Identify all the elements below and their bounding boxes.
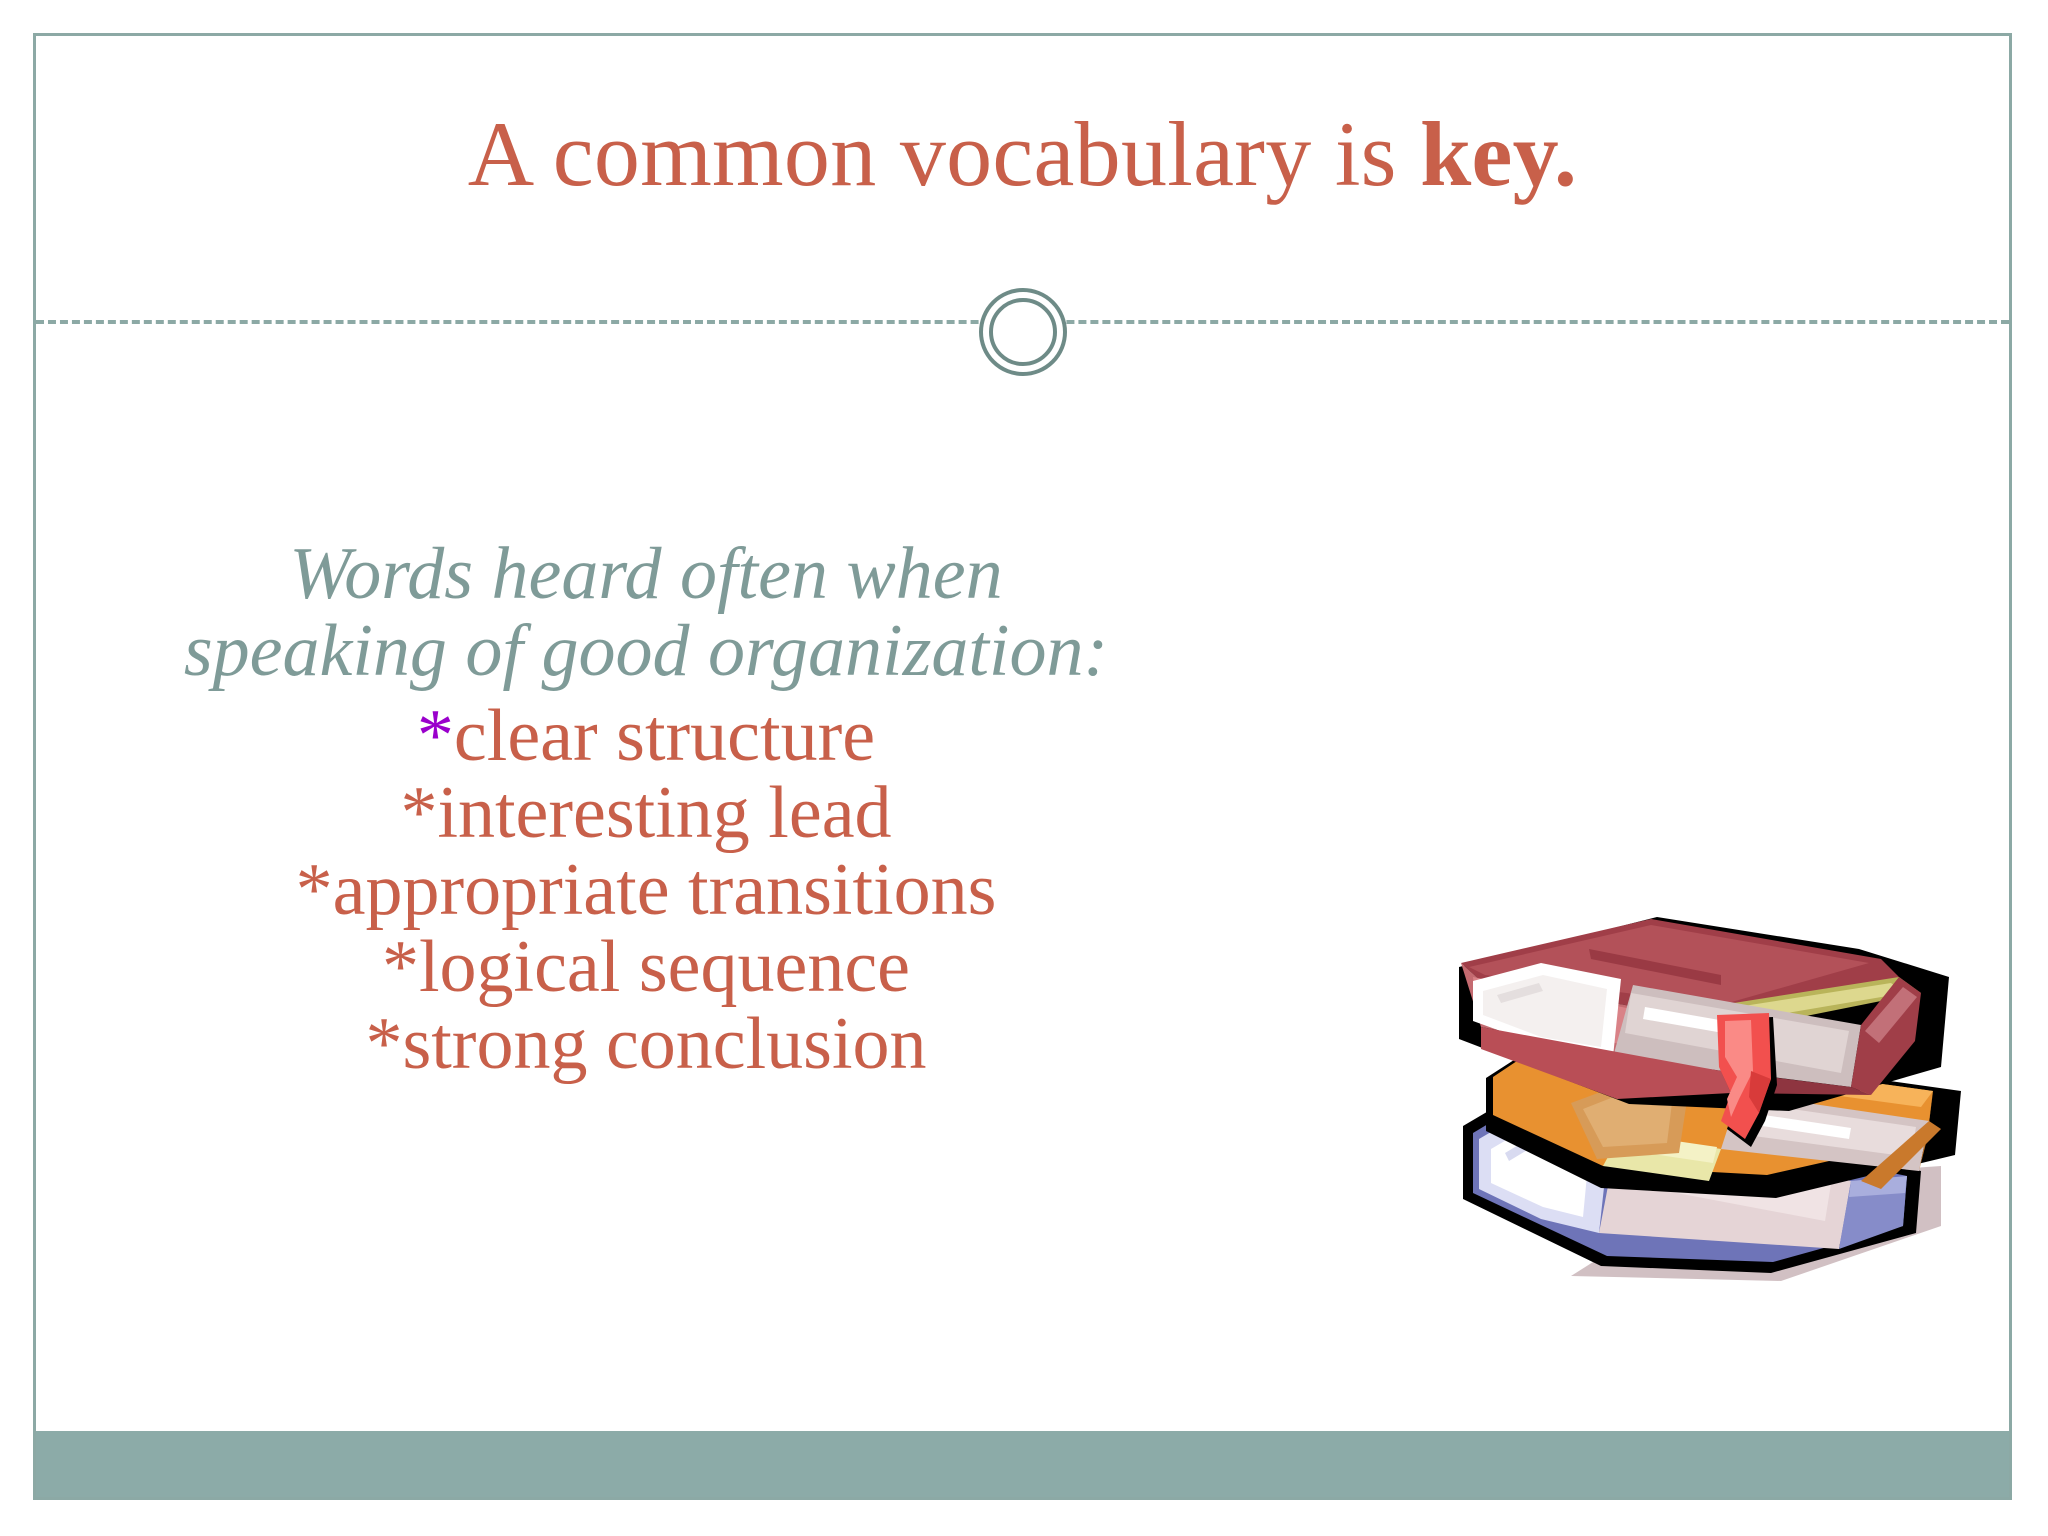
divider <box>36 288 2009 388</box>
asterisk-marker-icon: * <box>417 695 454 777</box>
bullet-label: interesting lead <box>437 772 891 854</box>
title-lead-text: A common vocabulary is <box>468 103 1420 205</box>
bullet-item: *clear structure <box>36 698 1256 775</box>
bullet-label: logical sequence <box>419 926 910 1008</box>
stack-of-books-image <box>1421 881 1991 1311</box>
lead-line: Words heard often when <box>36 536 1256 613</box>
bullet-item: *appropriate transitions <box>36 852 1256 929</box>
asterisk-marker-icon: * <box>382 926 419 1008</box>
asterisk-marker-icon: * <box>296 849 333 931</box>
bullet-item: *logical sequence <box>36 929 1256 1006</box>
bullet-label: appropriate transitions <box>333 849 997 931</box>
bullet-item: *strong conclusion <box>36 1006 1256 1083</box>
title-area: A common vocabulary is key. <box>36 108 2009 200</box>
title-emphasis-text: key. <box>1420 103 1577 205</box>
asterisk-marker-icon: * <box>365 1003 402 1085</box>
lead-line: speaking of good organization: <box>36 613 1256 690</box>
circle-ring-inner-icon <box>989 298 1057 366</box>
bullet-item: *interesting lead <box>36 775 1256 852</box>
bullet-label: clear structure <box>454 695 875 777</box>
lead-paragraph: Words heard often when speaking of good … <box>36 536 1256 690</box>
asterisk-marker-icon: * <box>400 772 437 854</box>
footer-bar <box>36 1431 2009 1497</box>
bullet-label: strong conclusion <box>402 1003 926 1085</box>
page-title: A common vocabulary is key. <box>36 108 2009 200</box>
slide-canvas: A common vocabulary is key. Words heard … <box>33 33 2012 1500</box>
body-text-block: Words heard often when speaking of good … <box>36 536 1256 1083</box>
